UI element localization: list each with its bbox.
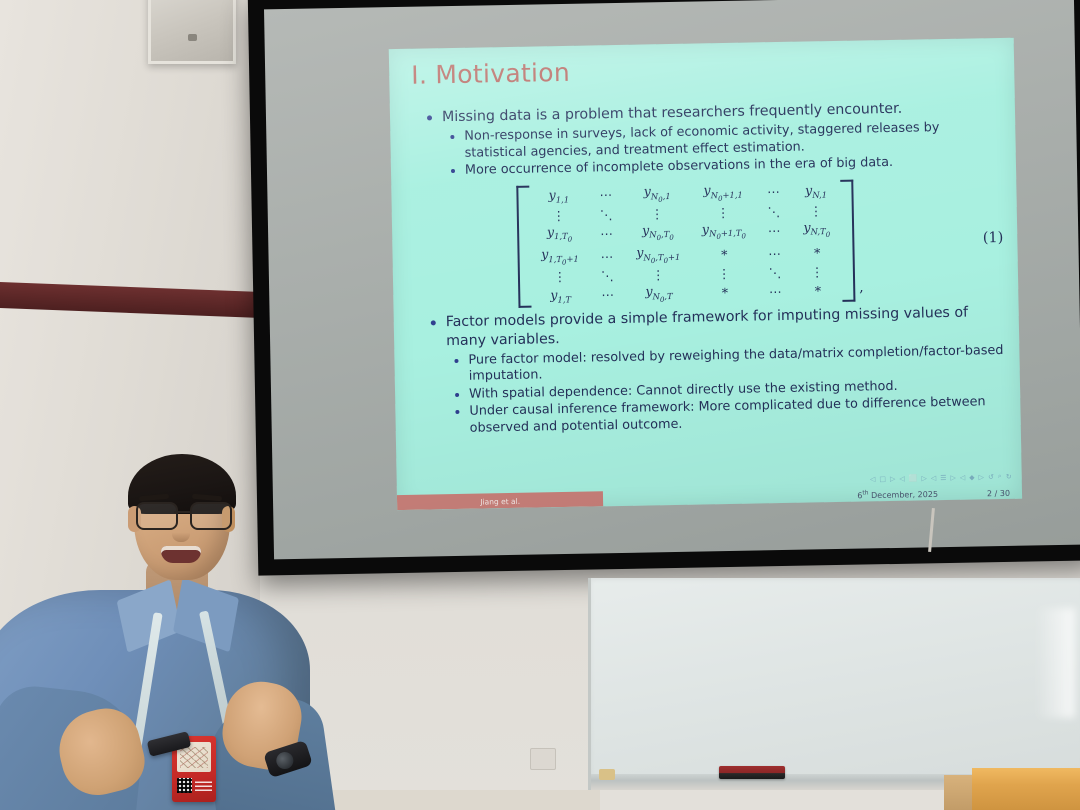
watch-face <box>274 750 295 771</box>
nose <box>172 526 190 542</box>
matrix-cell: ⋮ <box>792 202 841 219</box>
wall-outlet <box>530 748 556 770</box>
matrix-row: y1,T⋯yN0,T*⋯* <box>531 279 843 307</box>
board-eraser <box>719 766 785 779</box>
matrix-cell: ⋱ <box>590 267 626 284</box>
matrix-cell: ⋯ <box>588 183 624 206</box>
matrix-cell: y1,T0+1 <box>530 245 590 269</box>
nav-symbol-icon[interactable]: ◁ <box>931 474 937 482</box>
matrix-cell: ⋮ <box>626 266 692 283</box>
presenter <box>0 440 340 810</box>
glasses-bridge <box>174 511 190 513</box>
matrix-cell: yN0,1 <box>624 182 690 206</box>
slide-title: I. Motivation <box>411 58 570 90</box>
matrix-cell: * <box>793 279 842 302</box>
matrix-cell: * <box>793 241 842 264</box>
date-rest: December, 2025 <box>868 490 938 500</box>
matrix-cell: yN,T0 <box>792 218 841 241</box>
matrix-table: y1,1⋯yN0,1yN0+1,1⋯yN,1⋮⋱⋮⋮⋱⋮y1,T0⋯yN0,T0… <box>529 179 843 307</box>
floor-strip <box>300 790 600 810</box>
matrix-cell: ⋯ <box>589 222 625 245</box>
matrix-cell: y1,1 <box>529 184 589 208</box>
beamer-navigation-icons[interactable]: ◁□▷◁⬜▷◁☰▷◁◆▷↺⌕↻ <box>870 472 1012 484</box>
matrix-cell: ⋮ <box>624 205 690 222</box>
bullet-level2-group: Non-response in surveys, lack of economi… <box>416 119 1002 180</box>
footer-page-number: 2 / 30 <box>987 489 1010 498</box>
badge-qr-code <box>177 778 192 793</box>
lectern-side <box>944 775 974 810</box>
nav-symbol-icon[interactable]: ◁ <box>960 473 966 481</box>
right-bracket <box>840 179 855 302</box>
matrix-cell: y1,T <box>531 284 591 308</box>
nav-symbol-icon[interactable]: ◁ <box>899 474 905 482</box>
matrix: y1,1⋯yN0,1yN0+1,1⋯yN,1⋮⋱⋮⋮⋱⋮y1,T0⋯yN0,T0… <box>516 179 864 308</box>
bullet-level1: Factor models provide a simple framework… <box>420 303 1006 351</box>
slide-footer: Jiang et al. 6th December, 2025 2 / 30 <box>397 484 1022 510</box>
matrix-cell: yN0,T0 <box>625 221 691 245</box>
matrix-cell: ⋮ <box>530 268 590 285</box>
matrix-cell: yN0+1,1 <box>690 181 756 205</box>
nav-symbol-icon[interactable]: ◆ <box>969 473 975 481</box>
wall-speaker <box>148 0 236 64</box>
matrix-cell: ⋯ <box>590 245 626 268</box>
conference-room-photo: I. Motivation Missing data is a problem … <box>0 0 1080 810</box>
matrix-cell: y1,T0 <box>530 223 590 247</box>
nav-symbol-icon[interactable]: ↺ <box>988 473 994 481</box>
matrix-cell: ⋮ <box>692 265 758 282</box>
whiteboard <box>588 578 1080 790</box>
matrix-cell: ⋱ <box>756 203 792 220</box>
matrix-cell: ⋮ <box>793 263 842 280</box>
nav-symbol-icon[interactable]: ▷ <box>979 473 985 481</box>
slide-body: Missing data is a problem that researche… <box>416 98 1007 439</box>
projection-screen: I. Motivation Missing data is a problem … <box>248 0 1080 576</box>
matrix-cell: ⋮ <box>529 207 589 224</box>
matrix-cell: * <box>691 242 757 266</box>
matrix-cell: yN0,T <box>626 282 692 306</box>
screen-surface: I. Motivation Missing data is a problem … <box>264 0 1080 559</box>
matrix-cell: ⋯ <box>757 242 793 265</box>
lens-left <box>136 502 178 530</box>
matrix-cell: ⋱ <box>589 206 625 223</box>
matrix-cell: ⋮ <box>690 204 756 221</box>
nav-symbol-icon[interactable]: ⌕ <box>998 472 1002 481</box>
equation-comma: , <box>855 280 864 302</box>
matrix-cell: yN0,T0+1 <box>625 244 691 268</box>
matrix-cell: ⋯ <box>758 280 794 303</box>
matrix-cell: yN,1 <box>792 179 841 202</box>
presentation-slide: I. Motivation Missing data is a problem … <box>389 38 1022 510</box>
whiteboard-glare <box>1035 608 1075 718</box>
nav-symbol-icon[interactable]: ↻ <box>1006 472 1012 480</box>
nav-symbol-icon[interactable]: ▷ <box>921 474 927 482</box>
matrix-cell: ⋯ <box>590 283 626 306</box>
equation-number: (1) <box>983 230 1004 246</box>
matrix-cell: ⋱ <box>757 264 793 281</box>
badge-text-lines <box>195 779 212 791</box>
matrix-cell: ⋯ <box>756 180 792 203</box>
nav-symbol-icon[interactable]: ▷ <box>950 473 956 481</box>
nav-symbol-icon[interactable]: □ <box>879 475 886 483</box>
board-marker <box>599 769 615 780</box>
nav-symbol-icon[interactable]: ▷ <box>890 474 896 482</box>
nav-symbol-icon[interactable]: ◁ <box>870 475 876 483</box>
wooden-lectern <box>972 768 1080 810</box>
mouth <box>161 546 201 563</box>
matrix-cell: * <box>692 281 758 305</box>
matrix-cell: yN0+1,T0 <box>691 220 757 244</box>
footer-date: 6th December, 2025 <box>857 489 938 501</box>
equation-row: y1,1⋯yN0,1yN0+1,1⋯yN,1⋮⋱⋮⋮⋱⋮y1,T0⋯yN0,T0… <box>417 177 1004 310</box>
lens-right <box>190 502 232 530</box>
nav-symbol-icon[interactable]: ☰ <box>940 474 946 482</box>
nav-symbol-icon[interactable]: ⬜ <box>909 474 918 482</box>
eyeglasses <box>132 502 232 528</box>
matrix-cell: ⋯ <box>757 219 793 242</box>
bullet-level2-group: Pure factor model: resolved by reweighin… <box>420 343 1006 438</box>
